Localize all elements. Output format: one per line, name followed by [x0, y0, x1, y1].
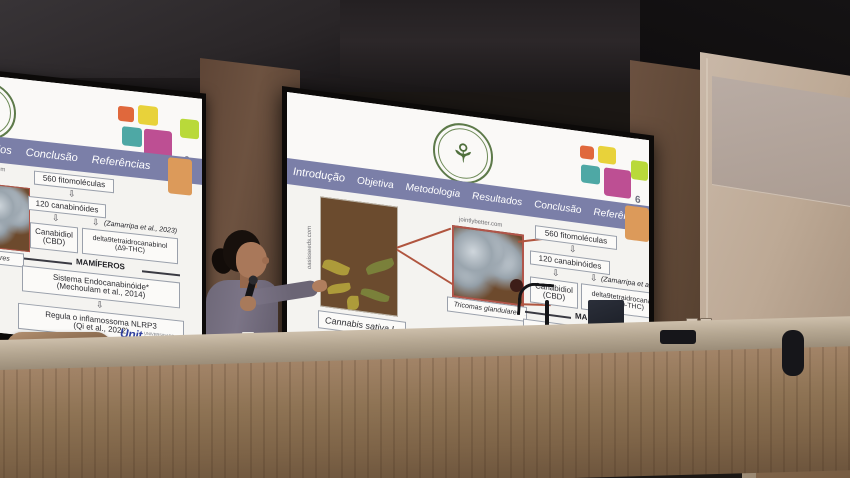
presenter-profile — [262, 257, 269, 264]
flow-node-cbd: Canabidiol (CBD) — [30, 222, 78, 253]
arrow-down-2-main: ⇩ — [552, 268, 560, 278]
arrow-down-3-main: ⇩ — [590, 273, 598, 283]
mamiferos-rule-left — [24, 257, 72, 264]
wall-seam — [706, 58, 708, 358]
arrow-down-1-main: ⇩ — [569, 245, 577, 255]
flow-node-120: 120 canabinóides — [28, 196, 106, 218]
flow-node-120-label: 120 canabinóides — [36, 200, 99, 215]
flowchart-left: 560 fitomoléculas ⇩ 120 canabinóides ⇩ ⇩… — [0, 76, 202, 355]
flow-node-560-label: 560 fitomoléculas — [43, 174, 105, 189]
arrow-down-2: ⇩ — [52, 214, 60, 224]
equipment-box-left — [660, 330, 696, 344]
flow-node-cbd-line2: (CBD) — [43, 237, 65, 248]
auditorium-scene: ⚘ 6 dos Conclusão Referências com ares — [0, 0, 850, 478]
arrow-down-4: ⇩ — [96, 300, 104, 310]
gooseneck-microphone-head — [510, 279, 523, 292]
flow-node-560-label-main: 560 fitomoléculas — [545, 229, 607, 246]
arrow-down-1: ⇩ — [68, 189, 76, 199]
slide-left: ⚘ 6 dos Conclusão Referências com ares — [0, 76, 202, 355]
side-wall-panel — [712, 76, 850, 207]
mamiferos-label-left: MAMÍFEROS — [76, 257, 125, 271]
projection-screen-left: ⚘ 6 dos Conclusão Referências com ares — [0, 76, 202, 355]
arrow-down-3: ⇩ — [92, 218, 100, 228]
mamiferos-rule-left2 — [142, 270, 180, 276]
presenter-mic-hand — [240, 296, 256, 311]
flow-node-120-main: 120 canabinóides — [530, 250, 610, 275]
equipment-box-right — [782, 330, 804, 376]
flow-node-120-label-main: 120 canabinóides — [539, 254, 602, 271]
ceiling-panel-left — [0, 0, 340, 78]
